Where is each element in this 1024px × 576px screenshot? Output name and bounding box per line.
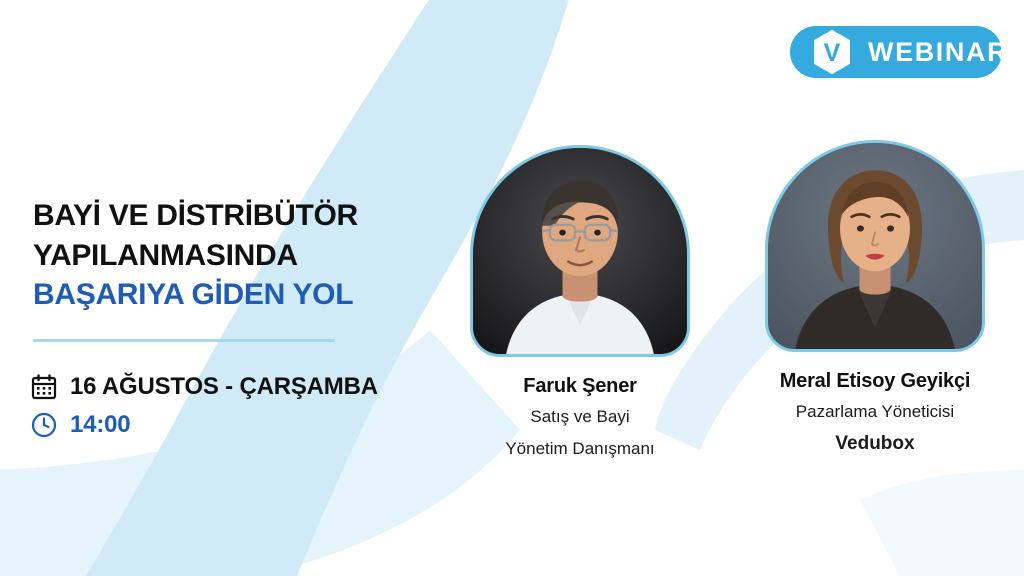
headline-divider — [33, 339, 335, 342]
speaker-role-2-line-1: Pazarlama Yöneticisi — [735, 400, 1015, 425]
webinar-poster: V WEBINAR BAYİ VE DİSTRİBÜTÖR YAPILANMAS… — [0, 0, 1024, 576]
clock-icon — [30, 411, 58, 439]
calendar-icon — [30, 373, 58, 401]
event-time-label: 14:00 — [70, 413, 130, 437]
headline-line-1: BAYİ VE DİSTRİBÜTÖR — [33, 196, 453, 236]
speaker-photo-2 — [765, 140, 985, 352]
headline-line-3: BAŞARIYA GİDEN YOL — [33, 275, 453, 315]
speaker-role-1-line-2: Yönetim Danışmanı — [440, 437, 720, 462]
event-date-label: 16 AĞUSTOS - ÇARŞAMBA — [70, 375, 378, 399]
webinar-badge-label: WEBINAR — [868, 39, 1008, 66]
faruk-sener-portrait-illustration — [473, 148, 687, 354]
svg-text:V: V — [824, 39, 841, 67]
meral-etisoy-geyikci-portrait-illustration — [768, 143, 982, 349]
speaker-name-2: Meral Etisoy Geyikçi — [735, 369, 1015, 393]
speaker-card-1: Faruk Şener Satış ve Bayi Yönetim Danışm… — [440, 145, 720, 461]
event-date-row: 16 AĞUSTOS - ÇARŞAMBA — [30, 368, 378, 406]
headline-line-2: YAPILANMASINDA — [33, 236, 453, 276]
speaker-photo-1 — [470, 145, 690, 357]
webinar-badge: V WEBINAR — [790, 26, 1002, 78]
page-title: BAYİ VE DİSTRİBÜTÖR YAPILANMASINDA BAŞAR… — [33, 196, 453, 315]
speaker-role-1-line-1: Satış ve Bayi — [440, 405, 720, 430]
speaker-name-1: Faruk Şener — [440, 374, 720, 398]
event-meta: 16 AĞUSTOS - ÇARŞAMBA 14:00 — [30, 368, 378, 444]
speaker-card-2: Meral Etisoy Geyikçi Pazarlama Yöneticis… — [735, 140, 1015, 457]
vedubox-hexagon-v-logo-icon: V — [812, 30, 852, 74]
speaker-company-2: Vedubox — [735, 430, 1015, 458]
event-time-row: 14:00 — [30, 406, 378, 444]
